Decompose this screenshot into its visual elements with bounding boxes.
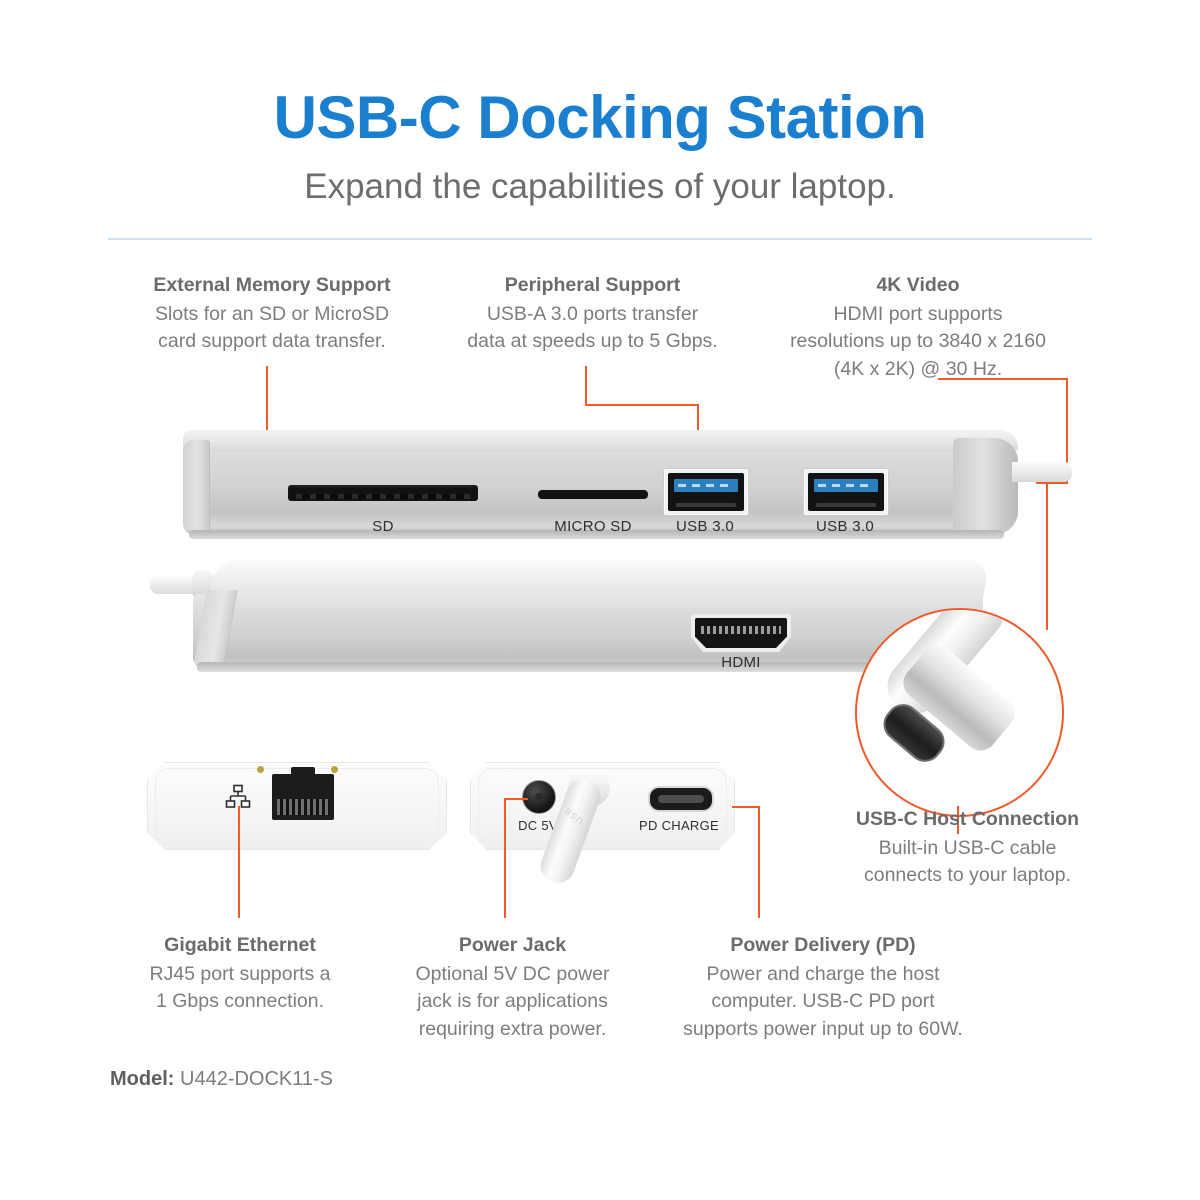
usb-a-port-right [803,468,889,516]
dock-side-front [193,594,983,666]
dock-top-edge [183,430,1018,452]
leader-line-power-jack-b [504,798,528,800]
dock-side-shadow [197,662,979,672]
callout-body: RJ45 port supports a 1 Gbps connection. [100,961,380,1016]
model-line: Model: U442-DOCK11-S [110,1068,333,1091]
usb-cavity [808,473,884,511]
callout-heading: Power Jack [370,932,655,960]
usb-a-port-left [663,468,749,516]
callout-body: HDMI port supports resolutions up to 384… [748,301,1088,384]
leader-line-peripheral-a [585,366,587,406]
callout-heading: Gigabit Ethernet [100,932,380,960]
host-cable-top-segment [1012,462,1072,482]
rj45-ethernet-port [272,774,334,820]
leader-line-power-jack-a [504,800,506,918]
callout-heading: USB-C Host Connection [790,806,1145,834]
ethernet-led-left [257,766,264,773]
callout-body: USB-A 3.0 ports transfer data at speeds … [430,301,755,356]
model-value: U442-DOCK11-S [180,1068,333,1090]
dock-side-face-image: HDMI [183,560,983,680]
callout-peripheral-support: Peripheral Support USB-A 3.0 ports trans… [430,272,755,356]
leader-line-4k-d [1046,482,1048,630]
page-title: USB-C Docking Station [0,88,1200,148]
usb-c-connector-magnifier [855,608,1064,817]
usb-tongue [816,503,876,507]
micro-sd-card-slot [538,490,648,499]
dc-power-jack [522,780,556,814]
dock-front-face-image: SD MICRO SD USB 3.0 USB 3.0 [183,430,1018,540]
usb-blue-insert [674,479,738,492]
leader-line-pd-b [758,806,760,918]
sd-card-slot [288,485,478,501]
callout-heading: Peripheral Support [430,272,755,300]
callout-power-delivery: Power Delivery (PD) Power and charge the… [648,932,998,1044]
dock-left-cap [183,440,210,532]
callout-body: Slots for an SD or MicroSD card support … [92,301,452,356]
dock-side-top-surface [209,560,990,598]
usb-cavity [668,473,744,511]
callout-external-memory-support: External Memory Support Slots for an SD … [92,272,452,356]
leader-line-pd-a [732,806,760,808]
leader-line-4k-c [1036,482,1068,484]
hdmi-port-label: HDMI [691,654,791,671]
hdmi-pins [701,626,781,634]
callout-power-jack: Power Jack Optional 5V DC power jack is … [370,932,655,1044]
callout-gigabit-ethernet: Gigabit Ethernet RJ45 port supports a 1 … [100,932,380,1016]
model-label: Model: [110,1068,174,1090]
micro-sd-port-label: MICRO SD [528,518,658,535]
leader-line-ethernet [238,806,240,918]
callout-heading: Power Delivery (PD) [648,932,998,960]
callout-body: Built-in USB-C cable connects to your la… [790,835,1145,890]
callout-body: Power and charge the host computer. USB-… [648,961,998,1044]
hdmi-port [695,618,787,648]
page-subtitle: Expand the capabilities of your laptop. [0,168,1200,207]
leader-line-peripheral-b [585,404,699,406]
ethernet-led-right [331,766,338,773]
callout-usb-c-host-connection: USB-C Host Connection Built-in USB-C cab… [790,806,1145,890]
callout-heading: External Memory Support [92,272,452,300]
usb-right-port-label: USB 3.0 [803,518,887,535]
pd-port-label: PD CHARGE [628,818,730,833]
callout-4k-video: 4K Video HDMI port supports resolutions … [748,272,1088,384]
ethernet-panel-image [147,762,447,850]
usb-c-pd-charge-port [648,786,714,812]
callout-heading: 4K Video [748,272,1088,300]
leader-line-4k-a [938,378,1068,380]
usb-left-port-label: USB 3.0 [663,518,747,535]
rj45-clip [291,767,315,777]
rj45-pins [277,799,329,815]
header-divider [108,238,1092,240]
sd-port-label: SD [323,518,443,535]
infographic-canvas: USB-C Docking Station Expand the capabil… [0,0,1200,1200]
dock-right-cap [953,438,1018,534]
callout-body: Optional 5V DC power jack is for applica… [370,961,655,1044]
cable-marking-label: USB [562,805,585,826]
usb-blue-insert [814,479,878,492]
usb-tongue [676,503,736,507]
